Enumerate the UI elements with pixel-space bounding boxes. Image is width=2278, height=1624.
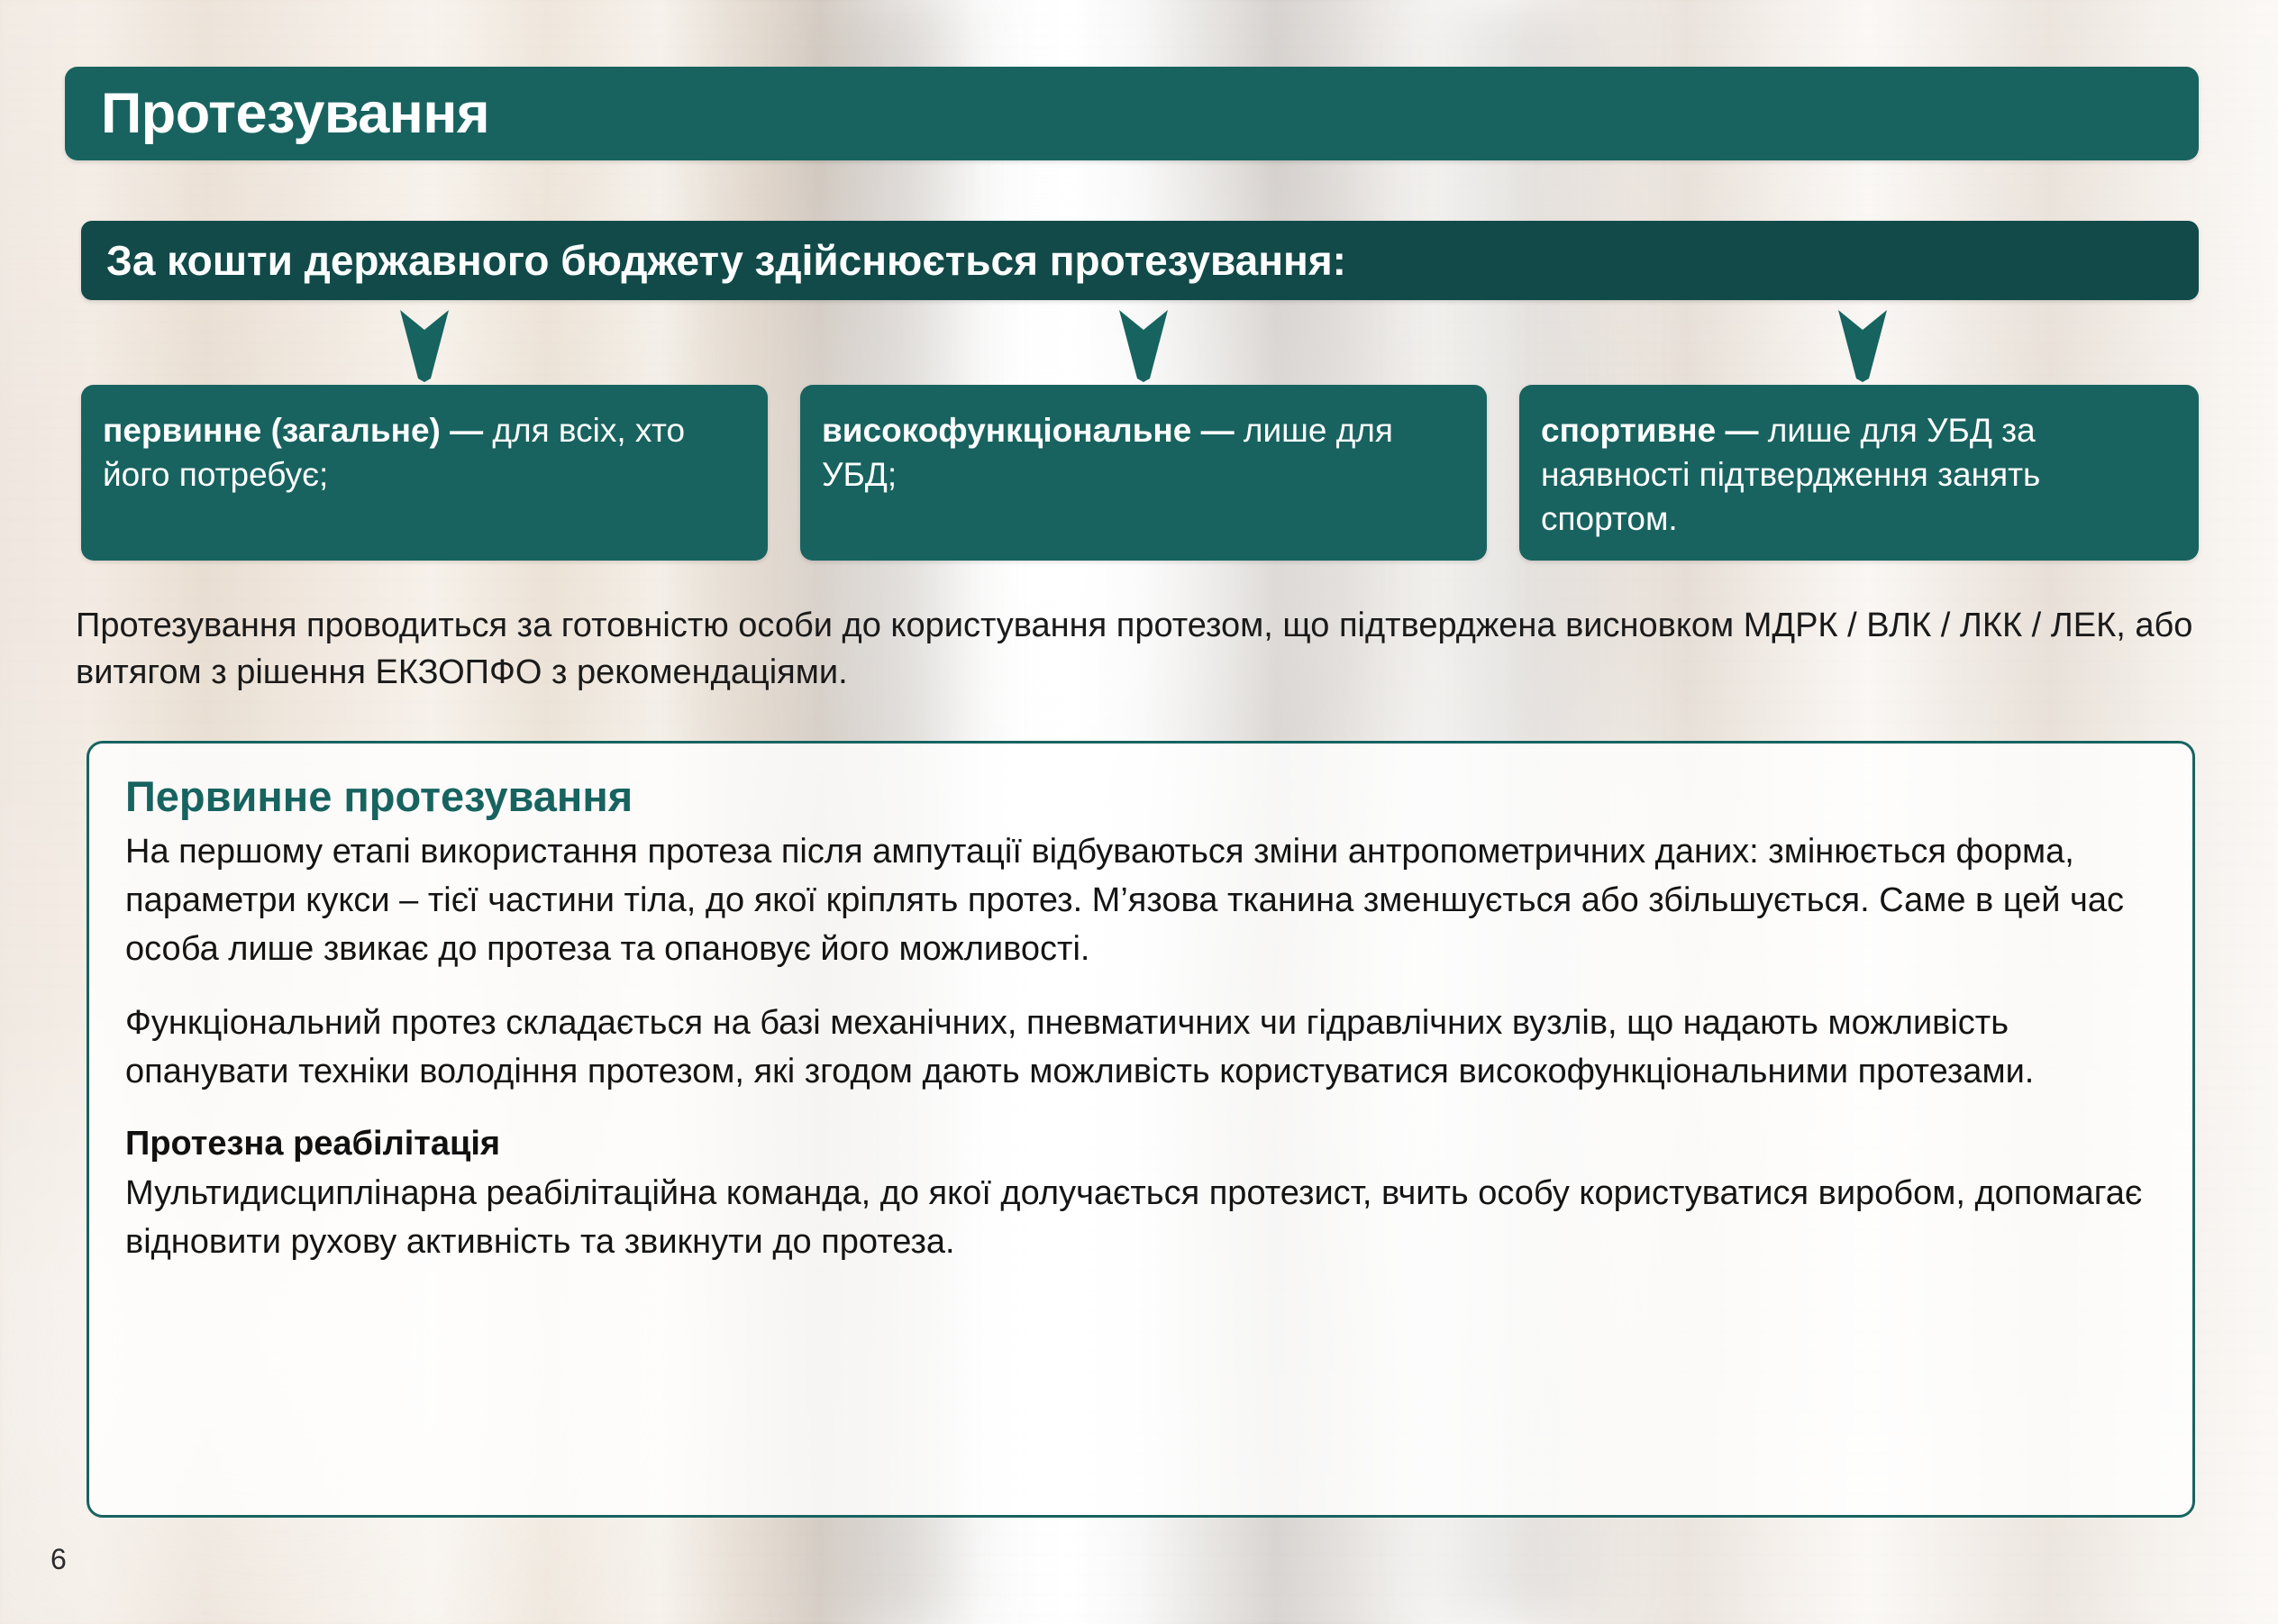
page-title: Протезування bbox=[65, 86, 489, 142]
option-lead: спортивне — bbox=[1541, 412, 1758, 449]
option-text: високофункціональне — лише для УБД; bbox=[822, 408, 1465, 497]
arrow-down-icon-2 bbox=[1117, 308, 1170, 382]
content-subheading: Протезна реабілітація bbox=[125, 1124, 2156, 1165]
option-text: спортивне — лише для УБД за наявності пі… bbox=[1541, 408, 2177, 542]
option-card-sport: спортивне — лише для УБД за наявності пі… bbox=[1519, 385, 2199, 561]
arrow-down-icon-3 bbox=[1836, 308, 1889, 382]
content-card: Первинне протезування На першому етапі в… bbox=[87, 741, 2195, 1518]
option-card-primary: первинне (загальне) — для всіх, хто його… bbox=[81, 385, 768, 561]
option-text: первинне (загальне) — для всіх, хто його… bbox=[103, 408, 746, 497]
note-paragraph: Протезування проводиться за готовністю о… bbox=[76, 602, 2204, 697]
slide-title-bar: Протезування bbox=[65, 67, 2199, 160]
content-paragraph-2: Функціональний протез складається на баз… bbox=[125, 999, 2156, 1097]
slide-subtitle-bar: За кошти державного бюджету здійснюється… bbox=[81, 221, 2199, 300]
arrow-down-icon-1 bbox=[398, 308, 451, 382]
content-heading: Первинне протезування bbox=[125, 772, 2156, 821]
content-paragraph-3: Мультидисциплінарна реабілітаційна коман… bbox=[125, 1170, 2156, 1267]
option-lead: високофункціональне — bbox=[822, 412, 1235, 449]
subtitle-text: За кошти державного бюджету здійснюється… bbox=[81, 240, 1346, 281]
content-paragraph-1: На першому етапі використання протеза пі… bbox=[125, 828, 2156, 974]
option-card-high-function: високофункціональне — лише для УБД; bbox=[800, 385, 1487, 561]
option-lead: первинне (загальне) — bbox=[103, 412, 483, 449]
page-number: 6 bbox=[50, 1543, 67, 1576]
slide-root: Протезування За кошти державного бюджету… bbox=[0, 0, 2278, 1624]
